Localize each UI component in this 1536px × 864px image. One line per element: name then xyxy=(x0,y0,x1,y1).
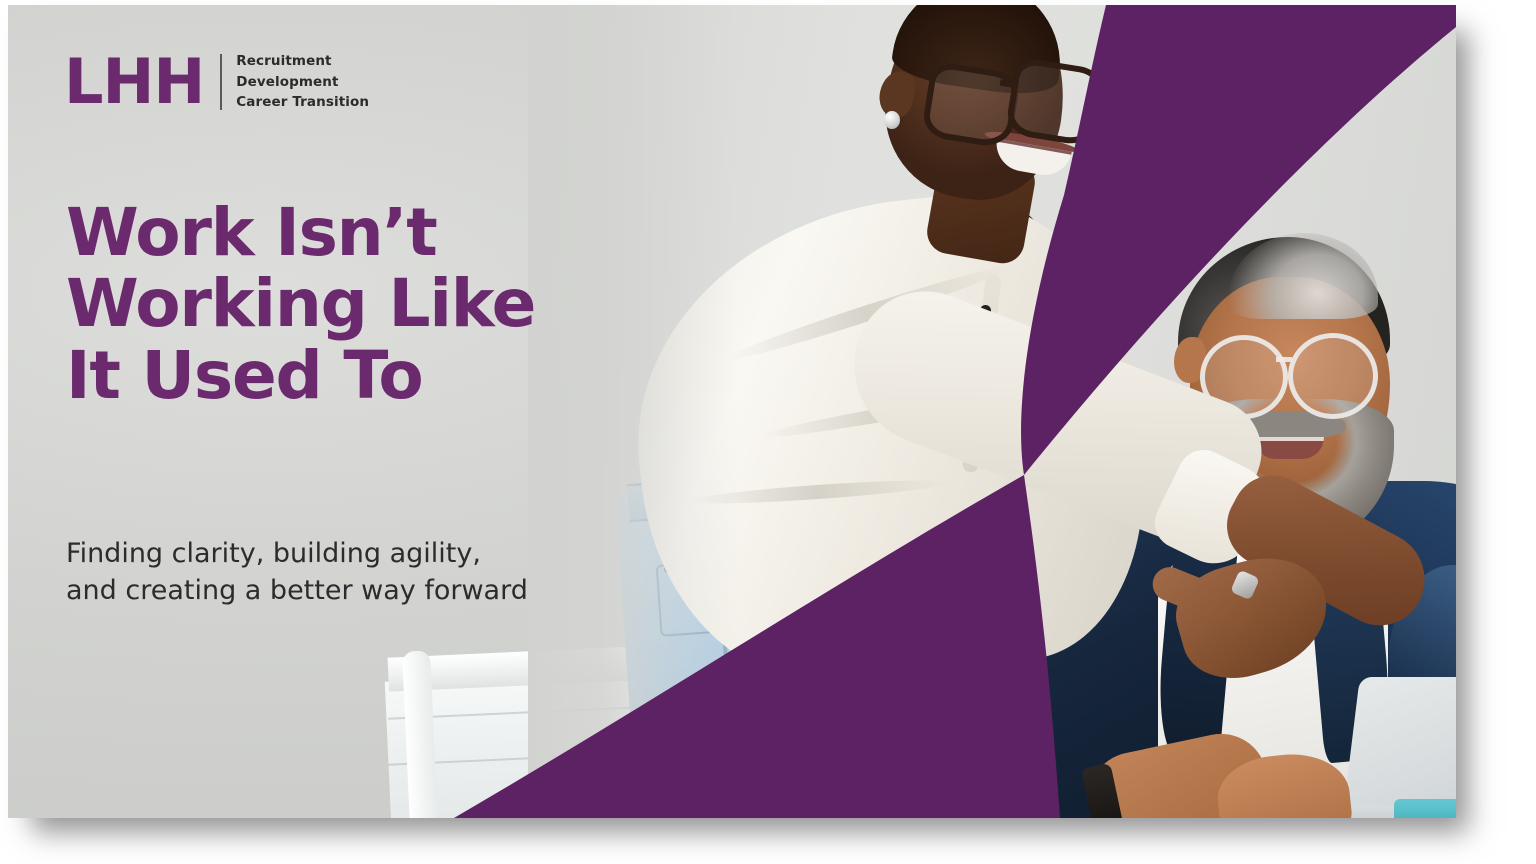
logo-tagline: Recruitment Development Career Transitio… xyxy=(236,51,369,113)
subheadline-line-2: and creating a better way forward xyxy=(66,572,646,609)
subheadline-line-1: Finding clarity, building agility, xyxy=(66,535,646,572)
woman-earring xyxy=(884,111,900,129)
hero-photo xyxy=(528,5,1456,818)
headline-line-2: Working Like xyxy=(66,268,626,339)
laptop-screen xyxy=(1340,677,1456,818)
tagline-line-recruitment: Recruitment xyxy=(236,51,369,72)
slide-text-panel: LHH Recruitment Development Career Trans… xyxy=(8,5,628,818)
slide-subheadline: Finding clarity, building agility, and c… xyxy=(66,535,646,610)
tagline-line-career-transition: Career Transition xyxy=(236,92,369,113)
man-eyeglass-bridge xyxy=(1276,357,1292,362)
lhh-logo[interactable]: LHH Recruitment Development Career Trans… xyxy=(64,51,369,113)
lhh-wordmark: LHH xyxy=(64,53,204,110)
man-eyeglass-right xyxy=(1288,333,1378,419)
logo-divider xyxy=(220,54,222,110)
headline-line-1: Work Isn’t xyxy=(66,197,626,268)
screenshot-stage: LHH Recruitment Development Career Trans… xyxy=(0,0,1536,864)
man-mouth xyxy=(1254,437,1324,459)
laptop-screen-content xyxy=(1394,799,1456,818)
headline-line-3: It Used To xyxy=(66,340,626,411)
slide-card: LHH Recruitment Development Career Trans… xyxy=(8,5,1456,818)
tagline-line-development: Development xyxy=(236,72,369,93)
slide-headline: Work Isn’t Working Like It Used To xyxy=(66,197,626,411)
